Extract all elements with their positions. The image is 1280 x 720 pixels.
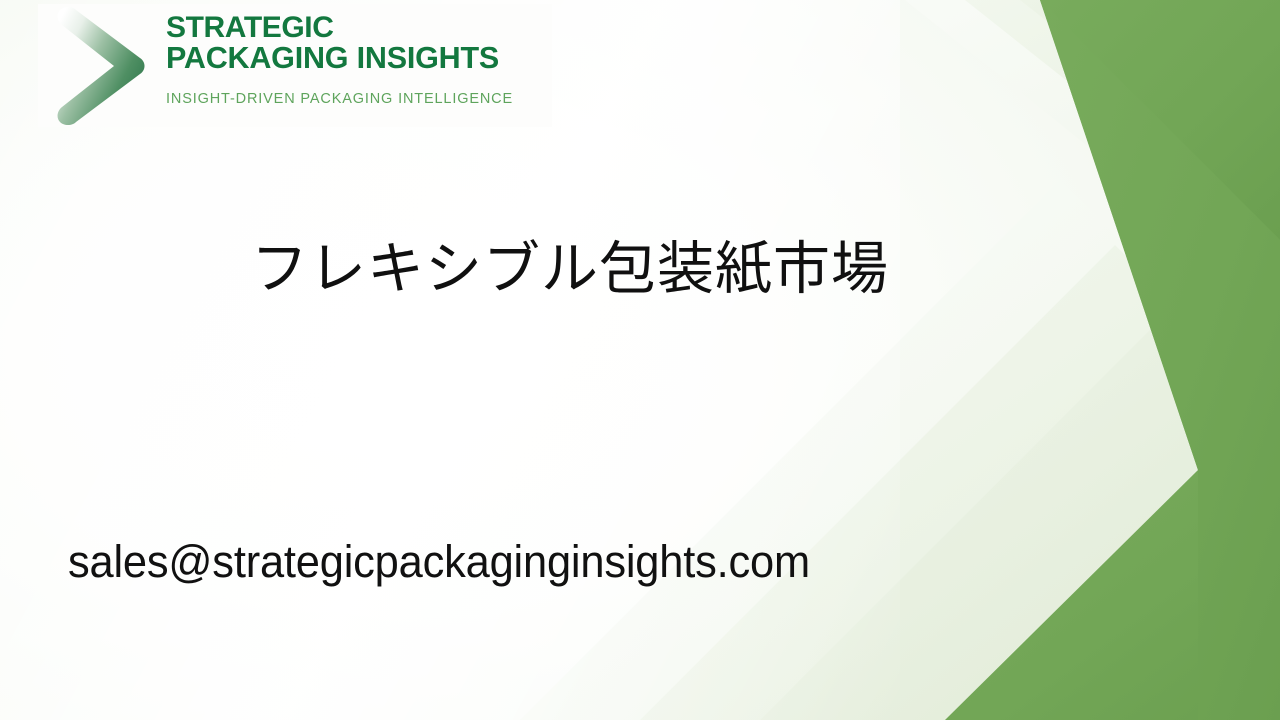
company-logo: STRATEGIC PACKAGING INSIGHTS INSIGHT-DRI…	[38, 4, 552, 127]
contact-email[interactable]: sales@strategicpackaginginsights.com	[68, 535, 810, 588]
chevron-mark-icon	[40, 4, 168, 127]
logo-tagline: INSIGHT-DRIVEN PACKAGING INTELLIGENCE	[166, 91, 552, 107]
logo-wordmark: STRATEGIC PACKAGING INSIGHTS INSIGHT-DRI…	[166, 12, 552, 107]
title-slide: STRATEGIC PACKAGING INSIGHTS INSIGHT-DRI…	[0, 0, 1280, 720]
slide-title: フレキシブル包装紙市場	[120, 236, 1020, 303]
logo-line-2: PACKAGING INSIGHTS	[166, 43, 552, 74]
logo-line-1: STRATEGIC	[166, 12, 552, 43]
